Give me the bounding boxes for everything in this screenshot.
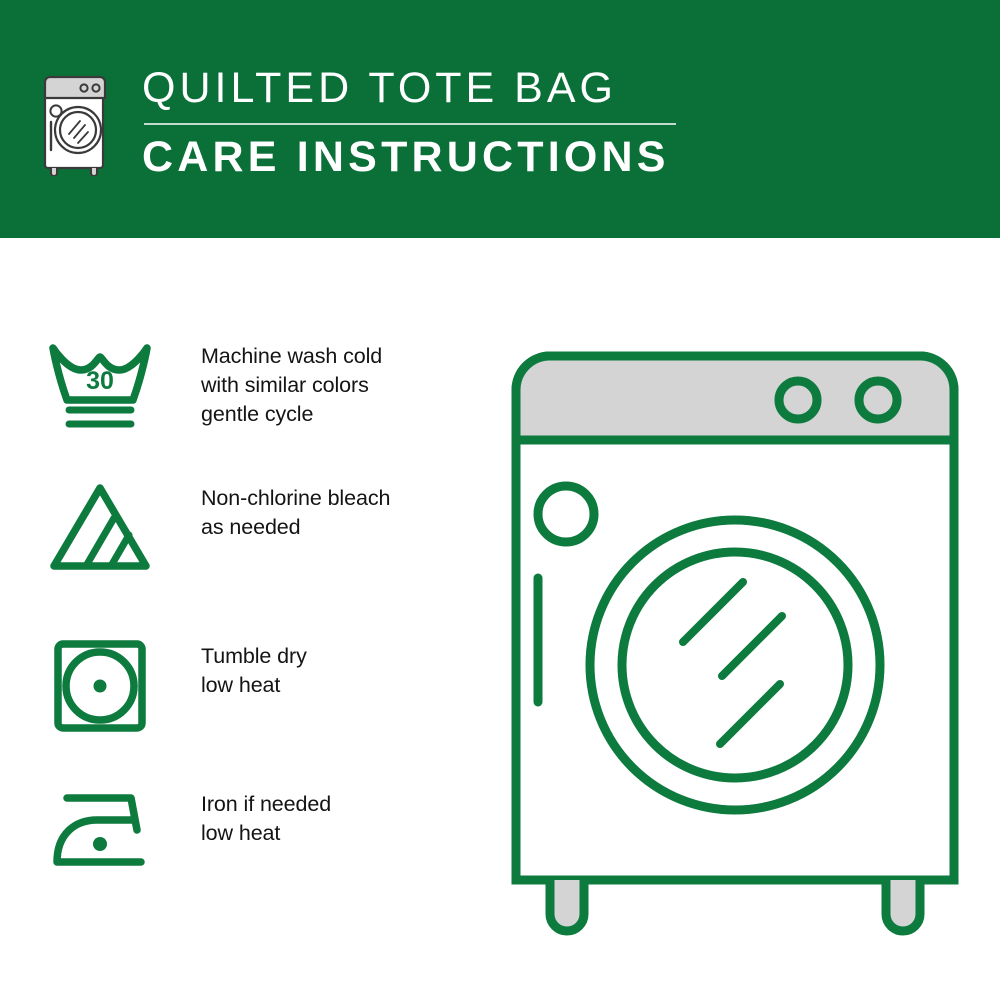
tumble-dry-low-heat-icon xyxy=(45,638,165,734)
care-instruction-list: 30 Machine wash cold with similar colors… xyxy=(0,238,500,1000)
care-text-line: with similar colors xyxy=(201,371,382,400)
care-item-iron-text: Iron if needed low heat xyxy=(201,790,331,848)
control-panel xyxy=(516,356,954,440)
header-title-group: QUILTED TOTE BAG CARE INSTRUCTIONS xyxy=(142,62,702,182)
iron-low-heat-icon xyxy=(45,786,165,882)
care-item-tumble-dry: Tumble dry low heat xyxy=(0,638,480,734)
care-item-tumble-dry-text: Tumble dry low heat xyxy=(201,642,307,700)
page-subtitle: CARE INSTRUCTIONS xyxy=(142,132,702,182)
wash-basin-30-gentle-icon: 30 xyxy=(45,338,165,434)
page-title: QUILTED TOTE BAG xyxy=(142,62,702,114)
care-text-line: gentle cycle xyxy=(201,400,382,429)
care-item-wash: 30 Machine wash cold with similar colors… xyxy=(0,338,480,434)
care-item-bleach: Non-chlorine bleach as needed xyxy=(0,480,480,576)
care-text-line: low heat xyxy=(201,819,331,848)
svg-text:30: 30 xyxy=(86,367,114,395)
care-text-line: Machine wash cold xyxy=(201,342,382,371)
front-load-washing-machine-illustration xyxy=(490,330,980,940)
care-item-iron: Iron if needed low heat xyxy=(0,786,480,882)
care-item-bleach-text: Non-chlorine bleach as needed xyxy=(201,484,390,542)
care-text-line: low heat xyxy=(201,671,307,700)
washing-machine-icon xyxy=(42,68,108,176)
care-item-wash-text: Machine wash cold with similar colors ge… xyxy=(201,342,382,429)
non-chlorine-bleach-triangle-icon xyxy=(45,480,165,576)
leg-left xyxy=(550,880,584,931)
care-text-line: Non-chlorine bleach xyxy=(201,484,390,513)
care-text-line: Iron if needed xyxy=(201,790,331,819)
title-divider xyxy=(144,123,676,125)
care-text-line: as needed xyxy=(201,513,390,542)
leg-right xyxy=(886,880,920,931)
header-band: QUILTED TOTE BAG CARE INSTRUCTIONS xyxy=(0,0,1000,238)
care-text-line: Tumble dry xyxy=(201,642,307,671)
care-instructions-page: QUILTED TOTE BAG CARE INSTRUCTIONS 30 xyxy=(0,0,1000,1000)
